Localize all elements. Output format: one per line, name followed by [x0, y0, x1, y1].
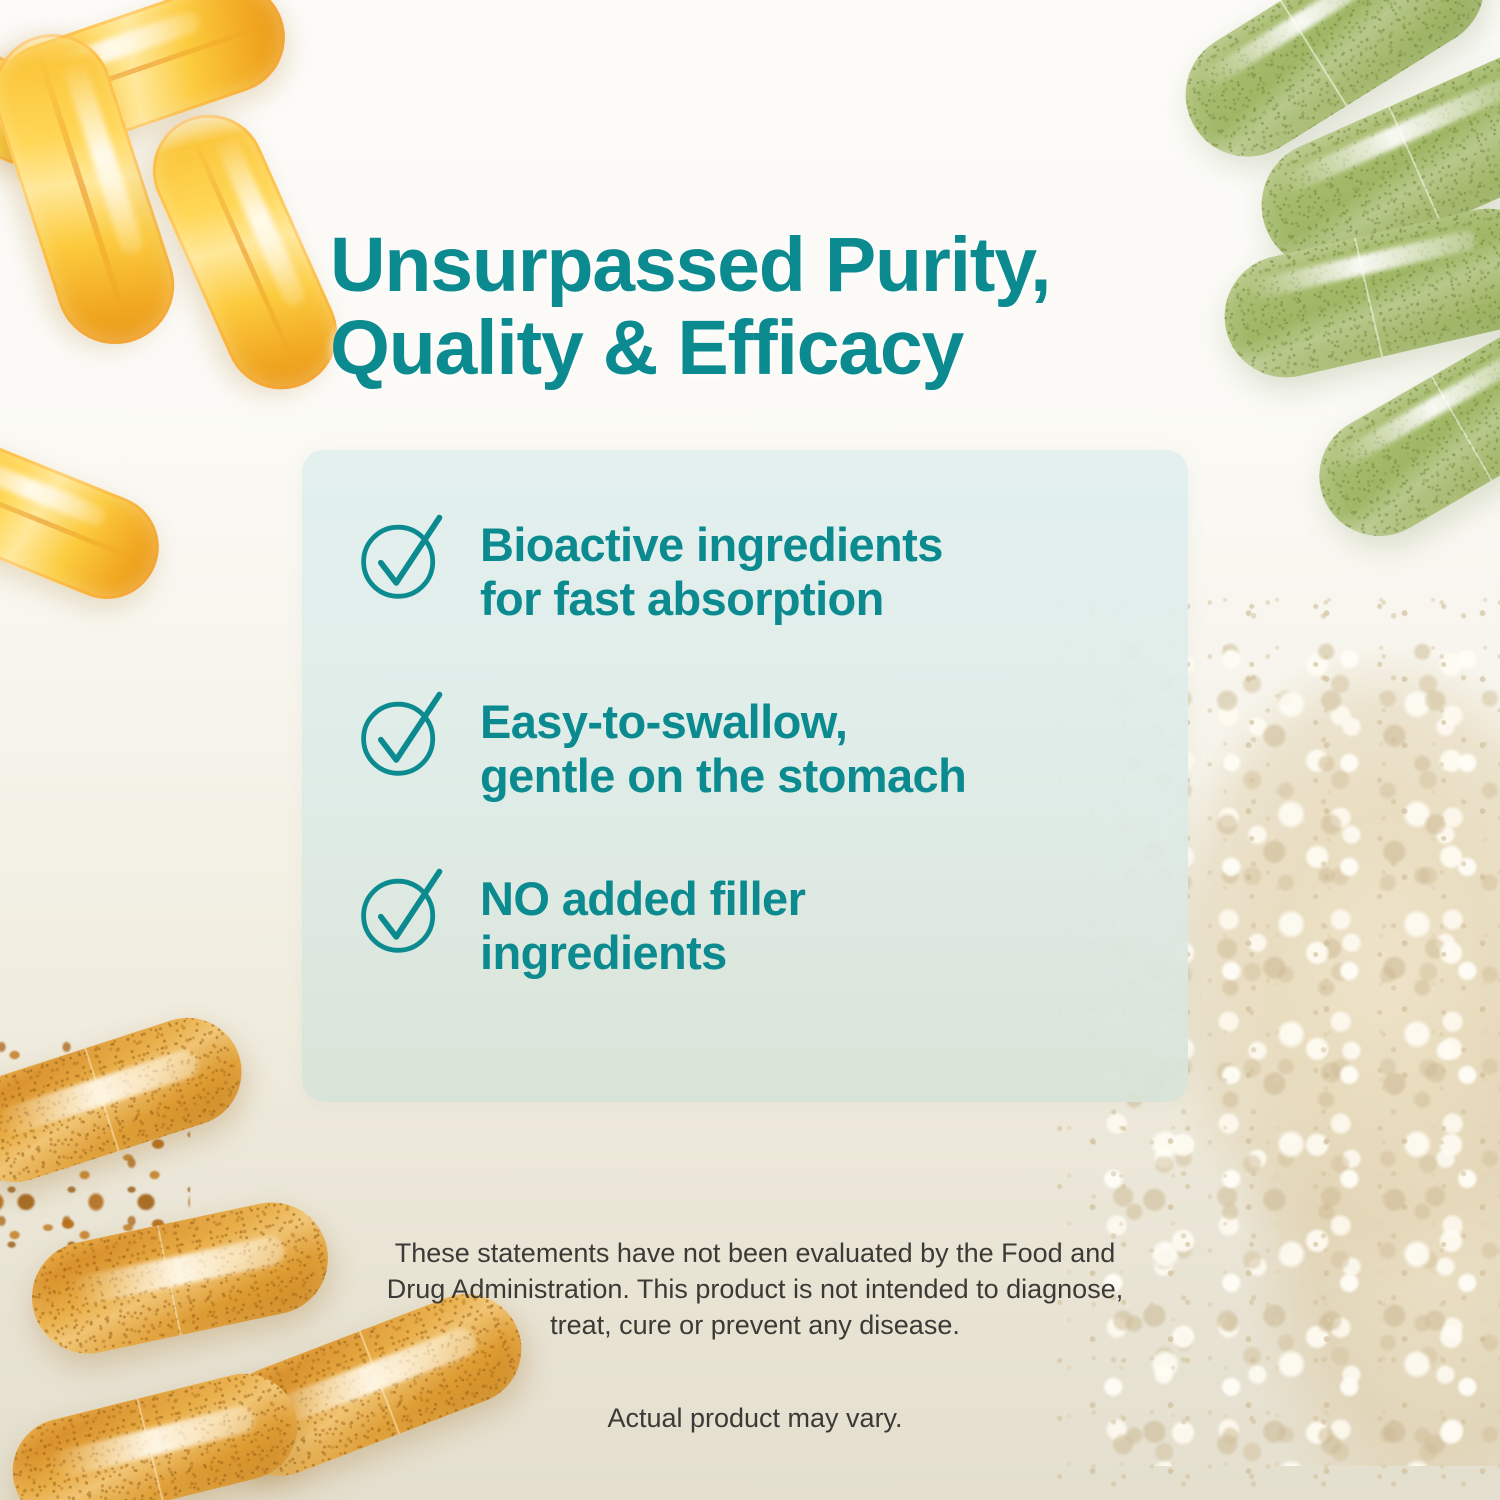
list-item-label: Bioactive ingredients for fast absorptio…	[480, 512, 943, 625]
disclaimer-line-1: These statements have not been evaluated…	[330, 1235, 1180, 1271]
page-title: Unsurpassed Purity, Quality & Efficacy	[330, 224, 1210, 390]
check-circle-icon	[354, 508, 450, 604]
disclaimer-line-2: Drug Administration. This product is not…	[330, 1271, 1180, 1307]
bullet-3-line-2: ingredients	[480, 926, 805, 980]
benefits-list: Bioactive ingredients for fast absorptio…	[354, 512, 1148, 979]
headline-line-2: Quality & Efficacy	[330, 307, 1210, 390]
list-item: Easy-to-swallow, gentle on the stomach	[354, 689, 1148, 802]
disclaimer-line-3: treat, cure or prevent any disease.	[330, 1307, 1180, 1343]
headline-line-1: Unsurpassed Purity,	[330, 224, 1210, 307]
turmeric-capsule	[22, 1192, 339, 1364]
product-benefit-graphic: Unsurpassed Purity, Quality & Efficacy B…	[0, 0, 1500, 1500]
list-item: Bioactive ingredients for fast absorptio…	[354, 512, 1148, 625]
check-circle-icon	[354, 862, 450, 958]
bullet-1-line-1: Bioactive ingredients	[480, 518, 943, 572]
disclaimer-spacer	[330, 1344, 1180, 1400]
check-circle-icon	[354, 685, 450, 781]
bullet-1-line-2: for fast absorption	[480, 572, 943, 626]
turmeric-capsule	[0, 1004, 256, 1196]
bullet-3-line-1: NO added filler	[480, 872, 805, 926]
turmeric-capsule	[1, 1362, 308, 1500]
bullet-2-line-2: gentle on the stomach	[480, 749, 966, 803]
list-item: NO added filler ingredients	[354, 866, 1148, 979]
list-item-label: NO added filler ingredients	[480, 866, 805, 979]
list-item-label: Easy-to-swallow, gentle on the stomach	[480, 689, 966, 802]
softgel-capsule	[135, 97, 355, 407]
disclaimer-line-4: Actual product may vary.	[330, 1400, 1180, 1436]
benefits-card: Bioactive ingredients for fast absorptio…	[302, 450, 1188, 1102]
bullet-2-line-1: Easy-to-swallow,	[480, 695, 966, 749]
softgel-capsule	[0, 425, 174, 614]
legal-disclaimer: These statements have not been evaluated…	[330, 1235, 1180, 1436]
